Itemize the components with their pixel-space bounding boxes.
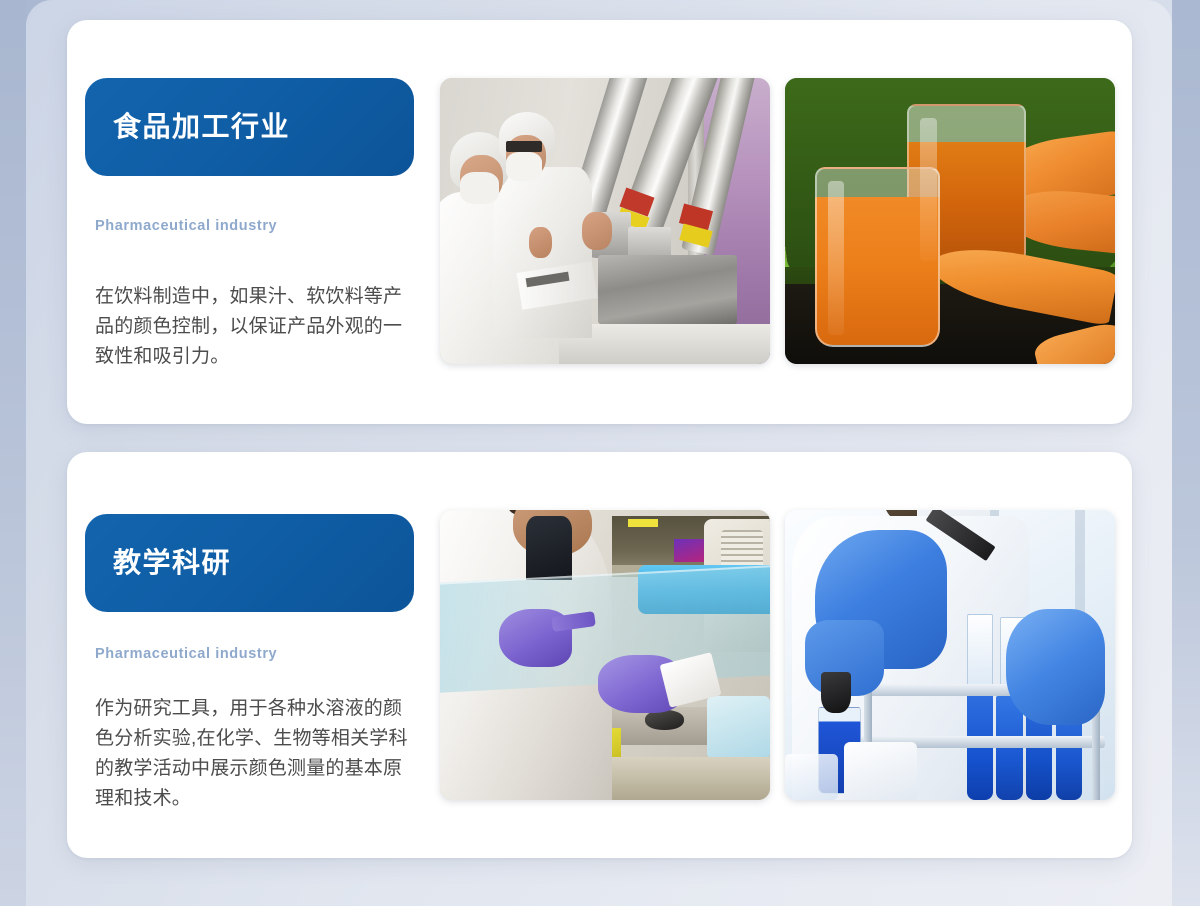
card-title-text: 食品加工行业 — [85, 112, 290, 143]
card-body-text: 作为研究工具，用于各种水溶液的颜色分析实验,在化学、生物等相关学科的教学活动中展… — [95, 694, 421, 814]
card-title-badge[interactable]: 教学科研 — [85, 514, 414, 612]
card-text-column: 教学科研 Pharmaceutical industry 作为研究工具，用于各种… — [85, 452, 485, 858]
food-processing-cleanroom-photo[interactable]: 两名身穿白色防护服、戴口罩与发网的技术人员在食品加工车间的不锈钢粉碎设备旁查看文… — [440, 78, 770, 364]
card-title-badge[interactable]: 食品加工行业 — [85, 78, 414, 176]
industry-card-food-processing[interactable]: 食品加工行业 Pharmaceutical industry 在饮料制造中，如果… — [67, 20, 1132, 424]
blue-test-tubes-photo[interactable]: 戴蓝色手套的研究人员用镊子在试管架上操作装有蓝色液体的试管 — [785, 510, 1115, 800]
card-title-text: 教学科研 — [85, 548, 231, 579]
photo-artwork — [440, 510, 770, 800]
card-subtitle: Pharmaceutical industry — [95, 218, 277, 234]
card-subtitle: Pharmaceutical industry — [95, 646, 277, 662]
photo-artwork — [785, 510, 1115, 800]
laboratory-researcher-photo[interactable]: 穿白大褂戴紫色手套的研究人员在实验室玻璃防护屏后操作仪器并拿着白色瓶子 — [440, 510, 770, 800]
photo-artwork — [785, 78, 1115, 364]
photo-artwork — [440, 78, 770, 364]
carrot-juice-glasses-photo[interactable]: 两杯胡萝卜汁摆放在木桌上，周围是新鲜胡萝卜和绿色胡萝卜叶 — [785, 78, 1115, 364]
page-root: 食品加工行业 Pharmaceutical industry 在饮料制造中，如果… — [0, 0, 1200, 906]
background-strip-right — [1172, 0, 1200, 906]
industry-card-teaching-research[interactable]: 教学科研 Pharmaceutical industry 作为研究工具，用于各种… — [67, 452, 1132, 858]
card-body-text: 在饮料制造中，如果汁、软饮料等产品的颜色控制，以保证产品外观的一致性和吸引力。 — [95, 282, 421, 372]
background-strip-left — [0, 0, 26, 906]
card-text-column: 食品加工行业 Pharmaceutical industry 在饮料制造中，如果… — [85, 20, 485, 424]
